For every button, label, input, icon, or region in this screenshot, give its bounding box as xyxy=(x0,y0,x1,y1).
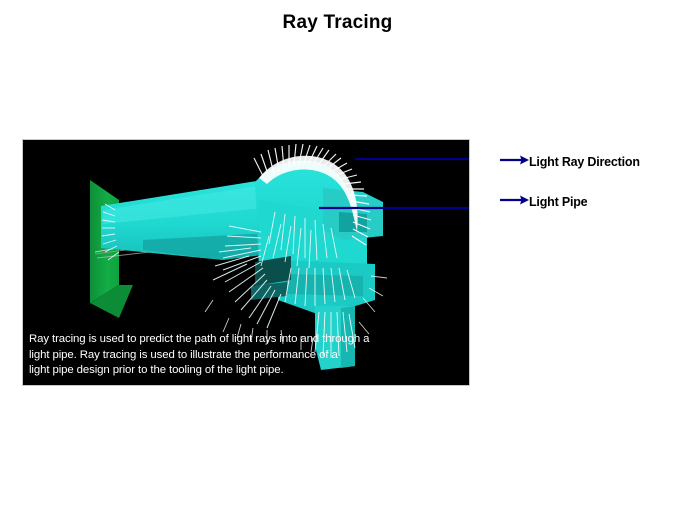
callout-label-light-pipe: Light Pipe xyxy=(529,195,587,209)
ray-tracing-render-panel: Ray tracing is used to predict the path … xyxy=(22,139,470,386)
callout-label-light-ray-direction: Light Ray Direction xyxy=(529,155,640,169)
arrow-right-icon-light-ray-direction xyxy=(500,150,530,170)
arrow-right-icon-light-pipe xyxy=(500,190,530,210)
page-title: Ray Tracing xyxy=(0,12,675,34)
render-caption: Ray tracing is used to predict the path … xyxy=(29,332,465,379)
presentation-slide: Ray Tracing xyxy=(0,0,675,506)
